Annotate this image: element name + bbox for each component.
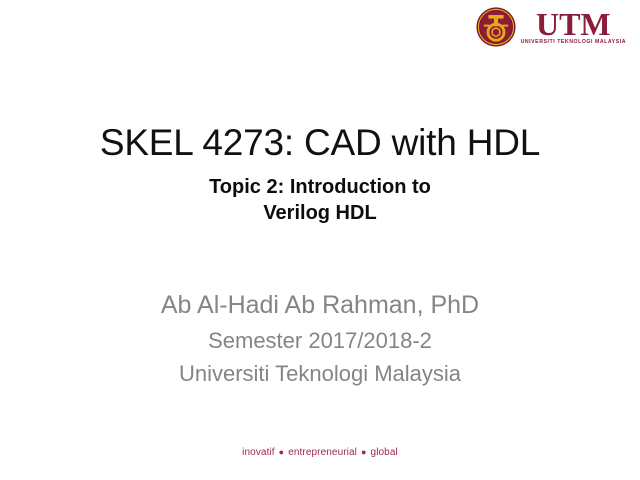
footer-tagline: inovatif●entrepreneurial●global [0, 447, 640, 458]
affiliation-line: Universiti Teknologi Malaysia [0, 357, 640, 390]
slide-subtitle: Topic 2: Introduction to Verilog HDL [0, 175, 640, 226]
footer-item-inovatif: inovatif [242, 447, 275, 458]
footer-separator-2: ● [357, 447, 371, 457]
utm-wordmark: UTM [536, 9, 611, 39]
footer-item-global: global [371, 447, 398, 458]
utm-emblem-icon [476, 7, 516, 47]
semester-line: Semester 2017/2018-2 [0, 324, 640, 357]
utm-wordmark-group: UTM UNIVERSITI TEKNOLOGI MALAYSIA [521, 9, 626, 46]
author-name: Ab Al-Hadi Ab Rahman, PhD [0, 288, 640, 324]
footer-separator-1: ● [275, 447, 289, 457]
subtitle-line-2: Verilog HDL [0, 201, 640, 227]
presentation-slide: UTM UNIVERSITI TEKNOLOGI MALAYSIA SKEL 4… [0, 0, 640, 480]
subtitle-line-1: Topic 2: Introduction to [0, 175, 640, 201]
author-block: Ab Al-Hadi Ab Rahman, PhD Semester 2017/… [0, 288, 640, 390]
slide-title: SKEL 4273: CAD with HDL [0, 122, 640, 163]
footer-item-entrepreneurial: entrepreneurial [288, 447, 357, 458]
utm-tagline: UNIVERSITI TEKNOLOGI MALAYSIA [521, 40, 626, 45]
utm-logo: UTM UNIVERSITI TEKNOLOGI MALAYSIA [476, 7, 626, 47]
title-block: SKEL 4273: CAD with HDL Topic 2: Introdu… [0, 122, 640, 227]
